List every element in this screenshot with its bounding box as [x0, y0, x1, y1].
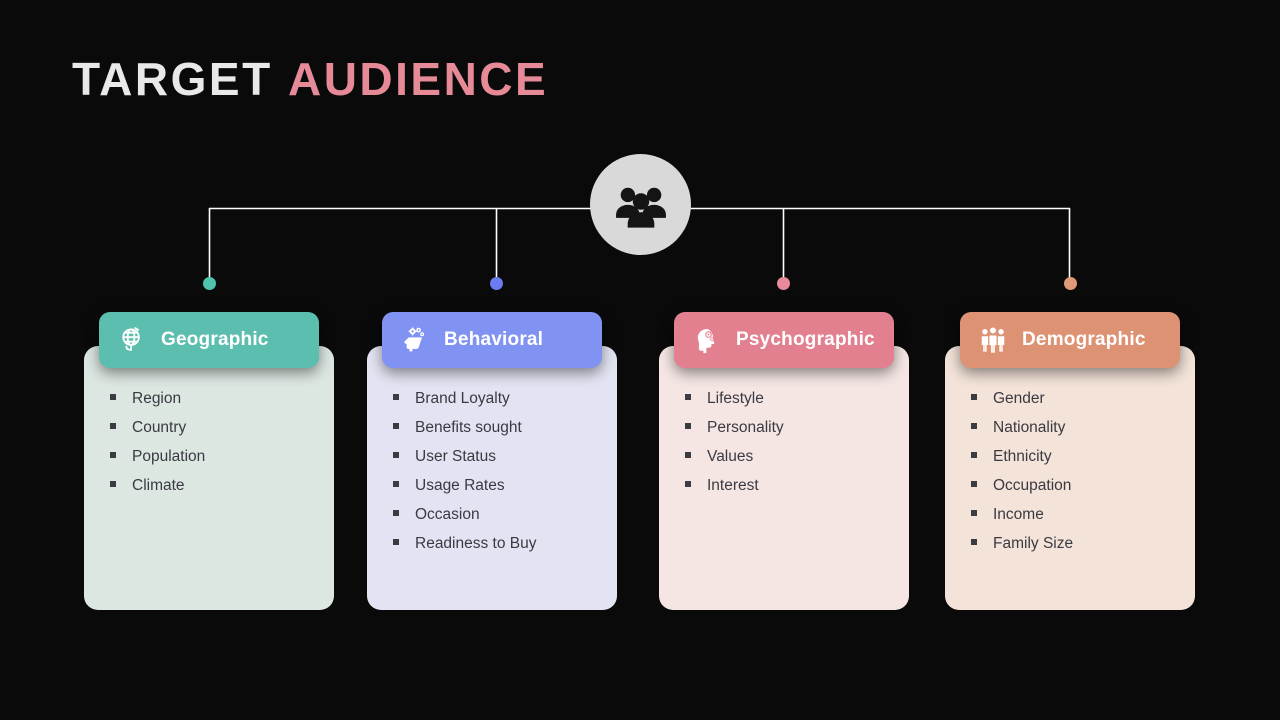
card-list-geographic: Region Country Population Climate [84, 390, 334, 506]
list-item: Occupation [945, 477, 1195, 506]
list-item: Nationality [945, 419, 1195, 448]
list-item-label: Usage Rates [415, 477, 505, 495]
bullet-square-icon [685, 394, 691, 400]
bullet-square-icon [971, 423, 977, 429]
branch-dot-psychographic [777, 277, 790, 290]
list-item: User Status [367, 448, 617, 477]
bullet-square-icon [971, 539, 977, 545]
list-item: Interest [659, 477, 909, 506]
list-item-label: Interest [707, 477, 759, 495]
card-list-behavioral: Brand Loyalty Benefits sought User Statu… [367, 390, 617, 564]
list-item-label: Values [707, 448, 753, 466]
globe-stand-icon [117, 325, 147, 355]
card-title-behavioral: Behavioral [444, 329, 543, 351]
list-item: Brand Loyalty [367, 390, 617, 419]
bullet-square-icon [393, 510, 399, 516]
list-item-label: Family Size [993, 535, 1073, 553]
bullet-square-icon [971, 510, 977, 516]
list-item: Ethnicity [945, 448, 1195, 477]
list-item: Lifestyle [659, 390, 909, 419]
list-item-label: Region [132, 390, 181, 408]
page-title-word-2: AUDIENCE [288, 53, 548, 105]
bullet-square-icon [971, 481, 977, 487]
list-item-label: Readiness to Buy [415, 535, 537, 553]
list-item: Country [84, 419, 334, 448]
list-item: Usage Rates [367, 477, 617, 506]
list-item: Readiness to Buy [367, 535, 617, 564]
list-item: Benefits sought [367, 419, 617, 448]
list-item-label: Personality [707, 419, 784, 437]
card-title-demographic: Demographic [1022, 329, 1146, 351]
bullet-square-icon [110, 452, 116, 458]
list-item-label: Population [132, 448, 205, 466]
list-item: Population [84, 448, 334, 477]
three-people-icon [978, 325, 1008, 355]
list-item-label: Gender [993, 390, 1045, 408]
list-item-label: Occasion [415, 506, 480, 524]
list-item: Income [945, 506, 1195, 535]
card-header-behavioral[interactable]: Behavioral [382, 312, 602, 368]
list-item-label: Climate [132, 477, 185, 495]
list-item-label: Brand Loyalty [415, 390, 510, 408]
list-item-label: Occupation [993, 477, 1071, 495]
page-title: TARGET AUDIENCE [72, 56, 548, 102]
card-list-psychographic: Lifestyle Personality Values Interest [659, 390, 909, 506]
branch-dot-geographic [203, 277, 216, 290]
list-item-label: Country [132, 419, 186, 437]
bullet-square-icon [393, 423, 399, 429]
list-item-label: Lifestyle [707, 390, 764, 408]
list-item: Gender [945, 390, 1195, 419]
bullet-square-icon [393, 394, 399, 400]
head-gears-icon [400, 325, 430, 355]
card-header-geographic[interactable]: Geographic [99, 312, 319, 368]
bullet-square-icon [685, 423, 691, 429]
list-item-label: Ethnicity [993, 448, 1052, 466]
bullet-square-icon [110, 481, 116, 487]
bullet-square-icon [685, 481, 691, 487]
list-item: Personality [659, 419, 909, 448]
list-item-label: Nationality [993, 419, 1065, 437]
list-item: Region [84, 390, 334, 419]
card-title-geographic: Geographic [161, 329, 269, 351]
bullet-square-icon [393, 481, 399, 487]
slide-canvas: TARGET AUDIENCE [0, 0, 1280, 720]
list-item-label: User Status [415, 448, 496, 466]
bullet-square-icon [393, 452, 399, 458]
list-item-label: Income [993, 506, 1044, 524]
list-item: Family Size [945, 535, 1195, 564]
card-list-demographic: Gender Nationality Ethnicity Occupation … [945, 390, 1195, 564]
bullet-square-icon [971, 394, 977, 400]
list-item: Occasion [367, 506, 617, 535]
card-behavioral[interactable]: Behavioral Brand Loyalty Benefits sought… [367, 346, 617, 610]
head-profile-gear-icon [692, 325, 722, 355]
bullet-square-icon [110, 394, 116, 400]
card-geographic[interactable]: Geographic Region Country Population Cli… [84, 346, 334, 610]
card-header-psychographic[interactable]: Psychographic [674, 312, 894, 368]
list-item-label: Benefits sought [415, 419, 522, 437]
list-item: Values [659, 448, 909, 477]
list-item: Climate [84, 477, 334, 506]
bullet-square-icon [971, 452, 977, 458]
branch-dot-behavioral [490, 277, 503, 290]
card-title-psychographic: Psychographic [736, 329, 875, 351]
card-psychographic[interactable]: Psychographic Lifestyle Personality Valu… [659, 346, 909, 610]
hub-circle [590, 154, 691, 255]
card-header-demographic[interactable]: Demographic [960, 312, 1180, 368]
bullet-square-icon [685, 452, 691, 458]
branch-dot-demographic [1064, 277, 1077, 290]
page-title-word-1: TARGET [72, 53, 273, 105]
bullet-square-icon [393, 539, 399, 545]
people-group-icon [613, 177, 669, 233]
bullet-square-icon [110, 423, 116, 429]
card-demographic[interactable]: Demographic Gender Nationality Ethnicity… [945, 346, 1195, 610]
